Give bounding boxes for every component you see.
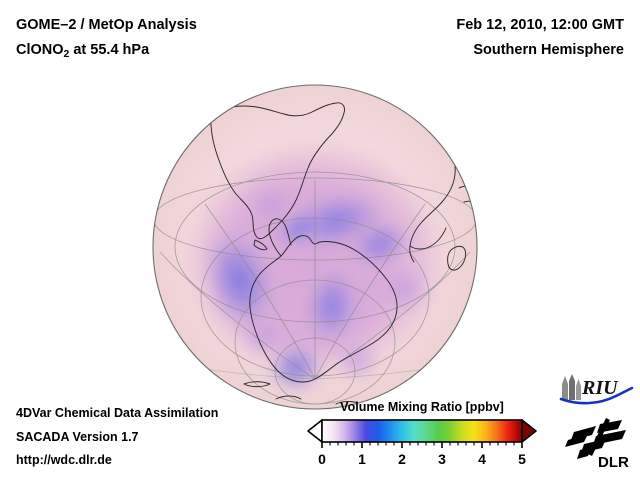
colorbar-extend-low-cap	[308, 420, 322, 442]
colorbar-extend-high-cap	[522, 420, 536, 442]
colorbar-title: Volume Mixing Ratio [ppbv]	[306, 400, 538, 414]
footer-left-block: 4DVar Chemical Data Assimilation SACADA …	[16, 402, 218, 473]
header-left-block: GOME–2 / MetOp Analysis ClONO2 at 55.4 h…	[16, 13, 197, 67]
analysis-title: GOME–2 / MetOp Analysis	[16, 13, 197, 38]
region-label: Southern Hemisphere	[456, 38, 624, 63]
riu-wordmark: RIU	[581, 377, 619, 399]
globe-map	[152, 84, 478, 410]
colorbar-ticks	[322, 442, 522, 448]
globe-field	[153, 85, 477, 409]
pressure-level-label: at 55.4 hPa	[69, 42, 149, 58]
method-label: 4DVar Chemical Data Assimilation	[16, 402, 218, 426]
header-right-block: Feb 12, 2010, 12:00 GMT Southern Hemisph…	[456, 13, 624, 63]
colorbar-gradient	[322, 420, 522, 442]
colorbar-tick-label: 2	[398, 451, 406, 467]
dlr-wordmark: DLR	[598, 454, 629, 471]
dlr-logo: DLR	[562, 414, 634, 474]
colorbar-tick-label: 4	[478, 451, 486, 467]
version-label: SACADA Version 1.7	[16, 426, 218, 450]
colorbar-tick-label: 1	[358, 451, 366, 467]
colorbar-tick-label: 5	[518, 451, 526, 467]
timestamp-label: Feb 12, 2010, 12:00 GMT	[456, 13, 624, 38]
riu-towers-icon	[562, 374, 581, 400]
riu-logo: RIU	[558, 372, 634, 406]
colorbar: Volume Mixing Ratio [ppbv] 012345	[306, 400, 538, 470]
species-label: ClONO	[16, 42, 64, 58]
colorbar-tick-label: 0	[318, 451, 326, 467]
colorbar-tick-label: 3	[438, 451, 446, 467]
species-pressure-title: ClONO2 at 55.4 hPa	[16, 38, 197, 67]
website-url[interactable]: http://wdc.dlr.de	[16, 449, 218, 473]
dlr-mark-icon	[565, 418, 626, 459]
colorbar-tick-labels: 012345	[318, 451, 526, 467]
